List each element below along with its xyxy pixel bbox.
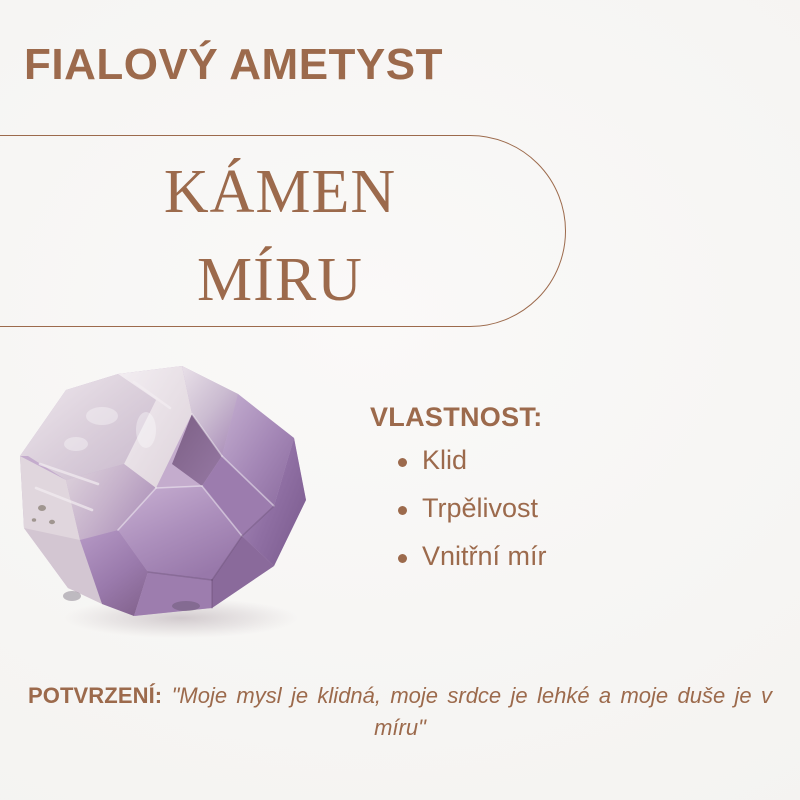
list-item: Trpělivost [398,495,750,522]
properties-section: VLASTNOST: Klid Trpělivost Vnitřní mír [370,402,750,570]
list-item: Vnitřní mír [398,543,750,570]
amethyst-crystal-image [6,360,336,640]
list-item: Klid [398,447,750,474]
affirmation-quote: "Moje mysl je klidná, moje srdce je lehk… [172,683,772,740]
amethyst-info-card: FIALOVÝ AMETYST KÁMEN MÍRU [0,0,800,800]
affirmation-section: POTVRZENÍ: "Moje mysl je klidná, moje sr… [28,680,772,744]
headline-line-2: MÍRU [0,236,560,324]
properties-list: Klid Trpělivost Vnitřní mír [370,447,750,570]
page-title: FIALOVÝ AMETYST [24,42,443,88]
headline-line-1: KÁMEN [0,148,560,236]
affirmation-label: POTVRZENÍ: [28,683,162,708]
headline: KÁMEN MÍRU [0,148,560,324]
properties-heading: VLASTNOST: [370,402,750,433]
